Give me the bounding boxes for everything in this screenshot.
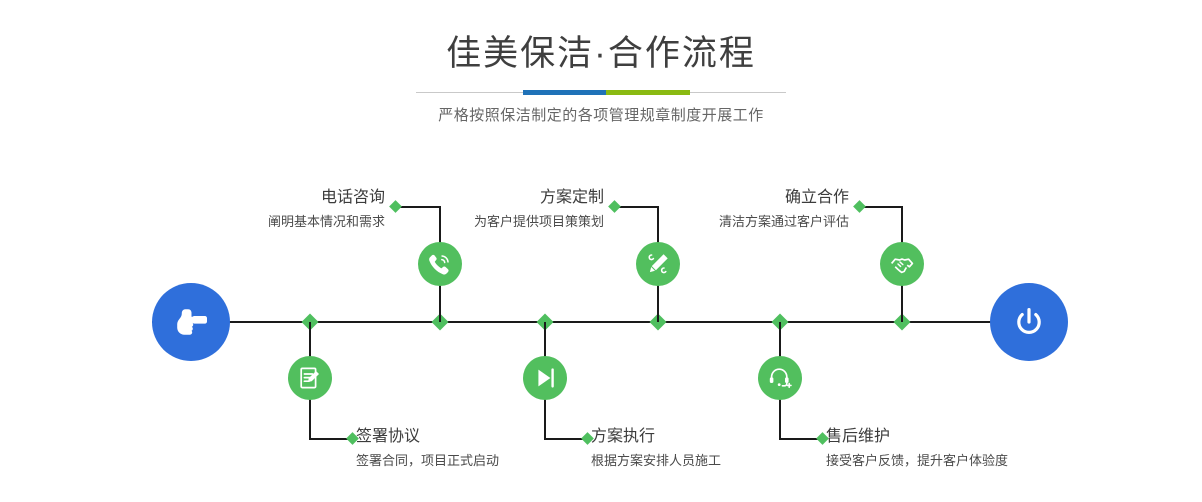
pointing-hand-icon (171, 302, 211, 342)
title-divider (416, 90, 786, 95)
step-icon-1 (418, 242, 462, 286)
power-icon (1009, 302, 1049, 342)
step-title: 电话咨询 (130, 188, 385, 208)
step-icon-2 (288, 356, 332, 400)
page-subtitle: 严格按照保洁制定的各项管理规章制度开展工作 (0, 104, 1202, 125)
timeline-axis (152, 321, 1050, 323)
step-label-3: 方案定制 为客户提供项目策策划 (350, 188, 604, 232)
step-label-6: 售后维护 接受客户反馈，提升客户体验度 (826, 427, 1156, 471)
step-label-1: 电话咨询 阐明基本情况和需求 (130, 188, 385, 232)
pencil-ruler-icon (645, 251, 671, 277)
step-label-5: 确立合作 清洁方案通过客户评估 (595, 188, 849, 232)
handshake-icon (889, 251, 915, 277)
step-title: 方案定制 (350, 188, 604, 208)
play-execute-icon (532, 365, 558, 391)
step-icon-6 (758, 356, 802, 400)
timeline-start-badge (152, 283, 230, 361)
divider-segment-green (606, 90, 690, 95)
step-title: 确立合作 (595, 188, 849, 208)
step-icon-3 (636, 242, 680, 286)
step-desc: 接受客户反馈，提升客户体验度 (826, 451, 1156, 471)
divider-segment-blue (523, 90, 606, 95)
label-marker-5 (853, 200, 866, 213)
headset-support-icon (767, 365, 793, 391)
step-desc: 为客户提供项目策策划 (350, 212, 604, 232)
timeline-end-badge (990, 283, 1068, 361)
flow-infographic: 佳美保洁·合作流程 严格按照保洁制定的各项管理规章制度开展工作 (0, 0, 1202, 502)
step-title: 售后维护 (826, 427, 1156, 447)
step-icon-5 (880, 242, 924, 286)
document-edit-icon (297, 365, 323, 391)
step-desc: 阐明基本情况和需求 (130, 212, 385, 232)
step-icon-4 (523, 356, 567, 400)
step-desc: 清洁方案通过客户评估 (595, 212, 849, 232)
header: 佳美保洁·合作流程 严格按照保洁制定的各项管理规章制度开展工作 (0, 30, 1202, 125)
page-title: 佳美保洁·合作流程 (0, 30, 1202, 78)
phone-call-icon (427, 251, 453, 277)
